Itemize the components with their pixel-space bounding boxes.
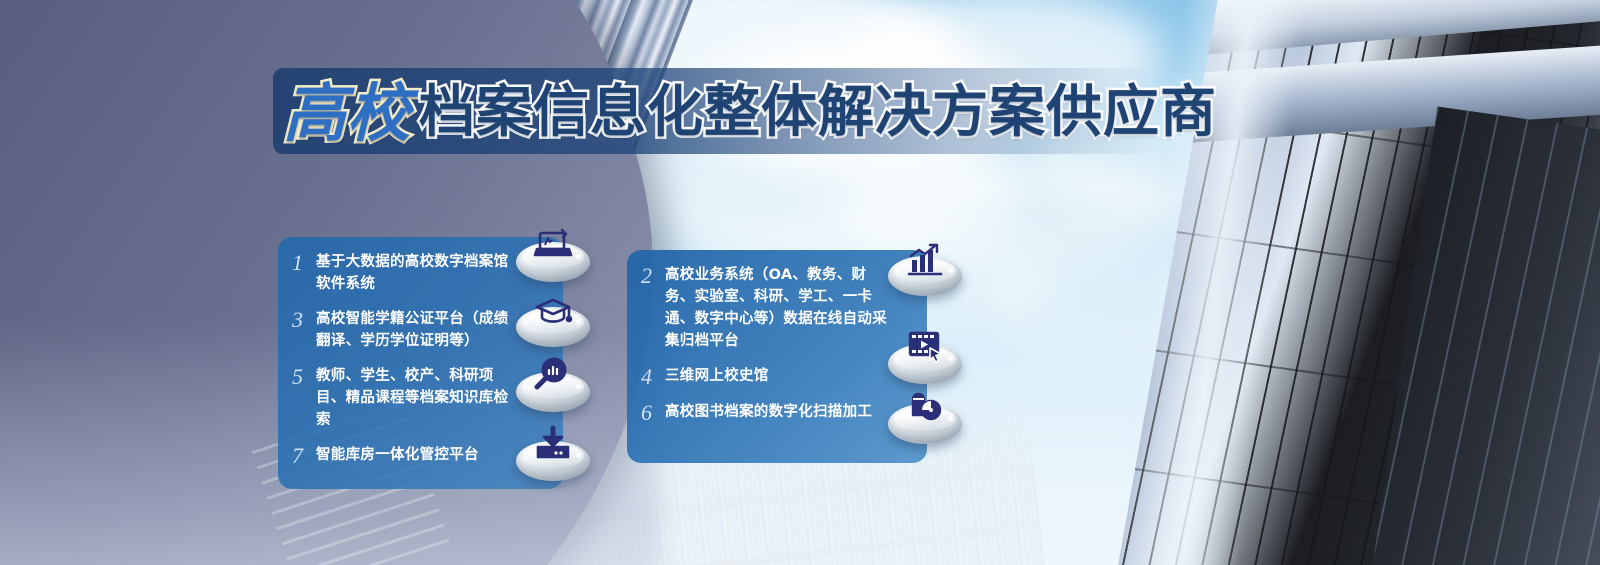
scanner-laptop-icon	[532, 224, 574, 266]
pedestal-highlight-dot	[576, 319, 581, 324]
icon-pedestal	[888, 330, 962, 388]
item-number: 5	[292, 365, 316, 388]
item-label: 三维网上校史馆	[665, 365, 890, 387]
title-highlight-text: 高校	[283, 82, 411, 145]
list-item[interactable]: 1 基于大数据的高校数字档案馆软件系统	[292, 251, 545, 295]
item-number: 3	[292, 308, 316, 331]
item-number: 7	[292, 444, 316, 467]
list-item[interactable]: 6 高校图书档案的数字化扫描加工	[641, 401, 909, 424]
icon-pedestal	[516, 293, 590, 351]
solutions-list-right: 2 高校业务系统（OA、教务、财务、实验室、科研、学工、一卡通、数字中心等）数据…	[627, 250, 927, 463]
item-number: 6	[641, 401, 665, 424]
icon-pedestal	[516, 228, 590, 286]
item-label: 教师、学生、校产、科研项目、精品课程等档案知识库检索	[316, 365, 522, 431]
icon-pedestal	[888, 242, 962, 300]
item-number: 4	[641, 365, 665, 388]
list-item[interactable]: 4 三维网上校史馆	[641, 365, 909, 388]
item-label: 智能库房一体化管控平台	[316, 444, 522, 466]
item-label: 高校智能学籍公证平台（成绩翻译、学历学位证明等）	[316, 308, 522, 352]
magnifier-chart-icon	[532, 354, 574, 396]
list-item[interactable]: 3 高校智能学籍公证平台（成绩翻译、学历学位证明等）	[292, 308, 545, 352]
pedestal-highlight-dot	[948, 268, 953, 273]
title-main-text: 档案信息化整体解决方案供应商	[419, 85, 1217, 141]
item-number: 2	[641, 264, 665, 287]
page-title: 高校 档案信息化整体解决方案供应商	[283, 70, 1217, 156]
list-item[interactable]: 7 智能库房一体化管控平台	[292, 444, 545, 467]
item-label: 高校业务系统（OA、教务、财务、实验室、科研、学工、一卡通、数字中心等）数据在线…	[665, 264, 890, 352]
film-play-cursor-icon	[904, 326, 946, 368]
scanner-disc-icon	[904, 386, 946, 428]
bar-chart-trend-icon	[904, 238, 946, 280]
pedestal-highlight-dot	[576, 384, 581, 389]
item-label: 基于大数据的高校数字档案馆软件系统	[316, 251, 522, 295]
download-archive-icon	[532, 423, 574, 465]
graduation-cap-icon	[532, 289, 574, 331]
item-number: 1	[292, 251, 316, 274]
pedestal-highlight-dot	[948, 356, 953, 361]
pedestal-highlight-dot	[948, 416, 953, 421]
item-label: 高校图书档案的数字化扫描加工	[665, 401, 890, 423]
list-item[interactable]: 5 教师、学生、校产、科研项目、精品课程等档案知识库检索	[292, 365, 545, 431]
icon-pedestal	[516, 358, 590, 416]
pedestal-highlight-dot	[576, 453, 581, 458]
list-item[interactable]: 2 高校业务系统（OA、教务、财务、实验室、科研、学工、一卡通、数字中心等）数据…	[641, 264, 909, 352]
solutions-panel-right: 2 高校业务系统（OA、教务、财务、实验室、科研、学工、一卡通、数字中心等）数据…	[627, 250, 927, 463]
icon-pedestal	[888, 390, 962, 448]
pedestal-highlight-dot	[576, 254, 581, 259]
icon-pedestal	[516, 427, 590, 485]
